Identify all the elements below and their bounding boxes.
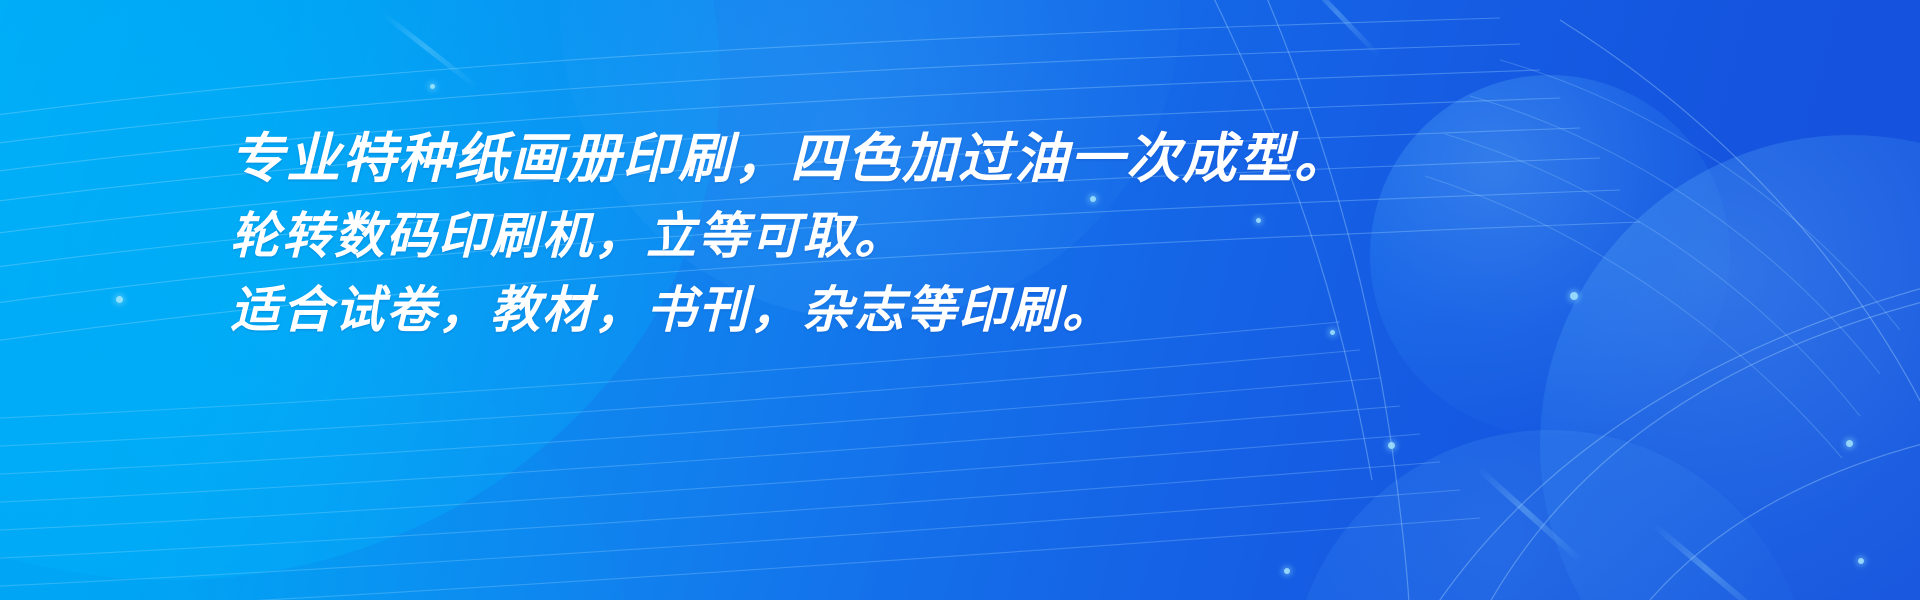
decorative-dot: [430, 84, 435, 89]
decorative-circle-lower-right: [1290, 430, 1810, 600]
headline-line-2: 轮转数码印刷机，立等可取。: [230, 200, 1650, 272]
decorative-dot: [1388, 442, 1395, 449]
decorative-streak: [381, 12, 479, 90]
decorative-streak: [1301, 0, 1381, 58]
decorative-dot: [1858, 558, 1864, 564]
decorative-dot: [1284, 568, 1290, 574]
decorative-streak: [1652, 522, 1771, 600]
headline-block: 专业特种纸画册印刷，四色加过油一次成型。 轮转数码印刷机，立等可取。 适合试卷，…: [230, 120, 1650, 346]
decorative-dot: [1846, 440, 1853, 447]
promo-banner: 专业特种纸画册印刷，四色加过油一次成型。 轮转数码印刷机，立等可取。 适合试卷，…: [0, 0, 1920, 600]
headline-line-3: 适合试卷，教材，书刊，杂志等印刷。: [230, 274, 1650, 346]
headline-line-1: 专业特种纸画册印刷，四色加过油一次成型。: [230, 120, 1650, 198]
decorative-streak: [1476, 466, 1584, 564]
decorative-dot: [116, 296, 123, 303]
